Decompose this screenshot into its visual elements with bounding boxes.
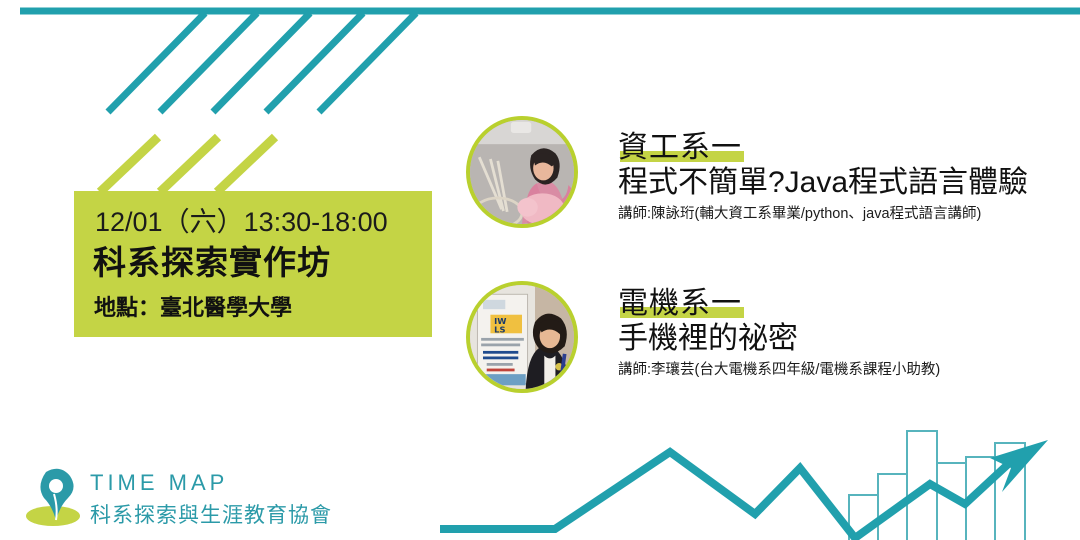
session-text-1: 資工系一 程式不簡單?Java程式語言體驗 講師:陳詠珩(輔大資工系畢業/pyt… bbox=[618, 132, 1028, 223]
poster-canvas: 12/01（六）13:30-18:00 科系探索實作坊 地點：臺北醫學大學 bbox=[0, 0, 1080, 540]
speaker-photo-2: IW LS bbox=[470, 285, 574, 389]
chart-trend-line bbox=[440, 452, 1018, 538]
session-lecturer-1: 講師:陳詠珩(輔大資工系畢業/python、java程式語言講師) bbox=[618, 202, 1028, 223]
session-department-wrap-2: 電機系一 bbox=[618, 288, 742, 320]
organization-logo: TIME MAP 科系探索與生涯教育協會 bbox=[18, 462, 338, 534]
chart-arrow-head bbox=[990, 440, 1048, 492]
speaker-photo-1 bbox=[470, 120, 574, 224]
logo-name-zh: 科系探索與生涯教育協會 bbox=[90, 499, 332, 529]
chart-bars bbox=[849, 431, 1025, 540]
session-topic-1: 程式不簡單?Java程式語言體驗 bbox=[618, 166, 1028, 200]
session-topic-2: 手機裡的祕密 bbox=[618, 322, 940, 356]
logo-name-en: TIME MAP bbox=[90, 470, 228, 496]
speaker-avatar-2: IW LS bbox=[466, 281, 578, 393]
teal-diagonal-stripes bbox=[108, 13, 416, 112]
speaker-avatar-1 bbox=[466, 116, 578, 228]
session-lecturer-2: 講師:李瓖芸(台大電機系四年級/電機系課程小助教) bbox=[618, 358, 940, 379]
session-text-2: 電機系一 手機裡的祕密 講師:李瓖芸(台大電機系四年級/電機系課程小助教) bbox=[618, 288, 940, 379]
map-pin-icon bbox=[24, 466, 84, 528]
green-diagonal-stripes bbox=[100, 137, 275, 192]
session-department-wrap-1: 資工系一 bbox=[618, 132, 742, 164]
event-date: 12/01（六）13:30-18:00 bbox=[95, 200, 435, 239]
svg-text:LS: LS bbox=[494, 324, 505, 334]
session-department-2: 電機系一 bbox=[618, 287, 742, 320]
event-location: 地點：臺北醫學大學 bbox=[94, 290, 434, 322]
event-title: 科系探索實作坊 bbox=[93, 236, 433, 284]
session-department-1: 資工系一 bbox=[618, 131, 742, 164]
growth-chart-graphic bbox=[440, 431, 1048, 540]
